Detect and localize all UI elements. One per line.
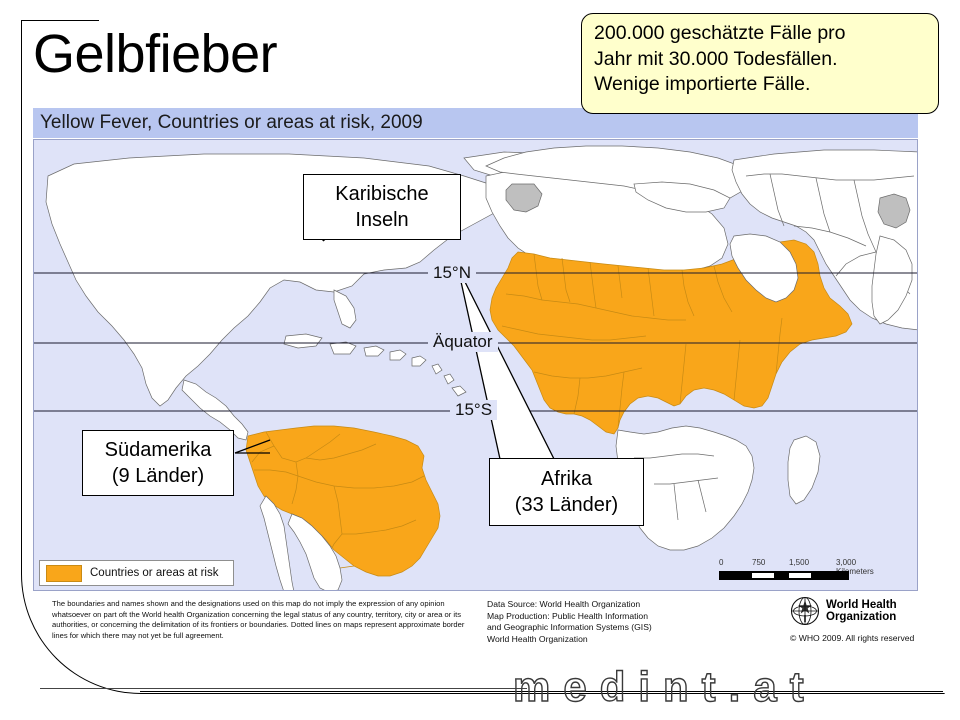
- legend-label-at-risk: Countries or areas at risk: [90, 567, 218, 579]
- latitude-label-15n: 15°N: [428, 263, 476, 283]
- map-scale-bar: 0 750 1,500 3,000 Kilometers: [719, 558, 891, 580]
- who-name-line-2: Organization: [826, 611, 897, 624]
- info-callout-line-3: Wenige importierte Fälle.: [594, 72, 927, 98]
- callout-africa-line-1: Afrika: [541, 466, 592, 492]
- callout-south-america-line-1: Südamerika: [105, 437, 212, 463]
- data-source-line-3: and Geographic Information Systems (GIS): [487, 622, 717, 634]
- data-source-line-2: Map Production: Public Health Informatio…: [487, 611, 717, 623]
- watermark-medint: medint.at: [513, 663, 817, 711]
- slide-root: Gelbfieber Yellow Fever, Countries or ar…: [0, 0, 960, 720]
- callout-south-america: Südamerika (9 Länder): [82, 430, 234, 496]
- info-callout-box: 200.000 geschätzte Fälle pro Jahr mit 30…: [581, 13, 939, 114]
- legend-swatch-at-risk: [46, 565, 82, 582]
- scale-tick-750: 750: [752, 558, 765, 567]
- data-source-line-1: Data Source: World Health Organization: [487, 599, 717, 611]
- who-logo-icon: [790, 596, 820, 626]
- scale-tick-0: 0: [719, 558, 723, 567]
- map-data-source: Data Source: World Health Organization M…: [487, 599, 717, 645]
- info-callout-line-2: Jahr mit 30.000 Todesfällen.: [594, 47, 927, 73]
- callout-south-america-line-2: (9 Länder): [112, 463, 204, 489]
- who-copyright: © WHO 2009. All rights reserved: [790, 633, 950, 643]
- callout-caribbean-line-2: Inseln: [355, 207, 408, 233]
- data-source-line-4: World Health Organization: [487, 634, 717, 646]
- page-title: Gelbfieber: [33, 25, 277, 83]
- callout-caribbean: Karibische Inseln: [303, 174, 461, 240]
- watermark-rule: [40, 688, 527, 689]
- who-name-line-1: World Health: [826, 599, 897, 612]
- slide-frame-top-rule: [21, 20, 99, 21]
- scale-tick-1500: 1,500: [789, 558, 809, 567]
- callout-africa: Afrika (33 Länder): [489, 458, 644, 526]
- page-subtitle: Yellow Fever, Countries or areas at risk…: [40, 110, 423, 136]
- world-map: .land{fill:#ffffff;stroke:#6b6b6b;stroke…: [33, 139, 918, 591]
- latitude-label-15s: 15°S: [450, 400, 497, 420]
- scale-bar-ticks: 0 750 1,500 3,000 Kilometers: [719, 558, 891, 569]
- info-callout-line-1: 200.000 geschätzte Fälle pro: [594, 21, 927, 47]
- map-legend: Countries or areas at risk: [39, 560, 234, 586]
- map-disclaimer: The boundaries and names shown and the d…: [52, 599, 472, 641]
- scale-bar-graphic: [719, 571, 849, 580]
- who-branding: World Health Organization © WHO 2009. Al…: [790, 596, 950, 643]
- callout-caribbean-line-1: Karibische: [335, 181, 428, 207]
- callout-africa-line-2: (33 Länder): [515, 492, 618, 518]
- map-graphic: .land{fill:#ffffff;stroke:#6b6b6b;stroke…: [34, 140, 918, 591]
- latitude-label-equator: Äquator: [428, 332, 498, 352]
